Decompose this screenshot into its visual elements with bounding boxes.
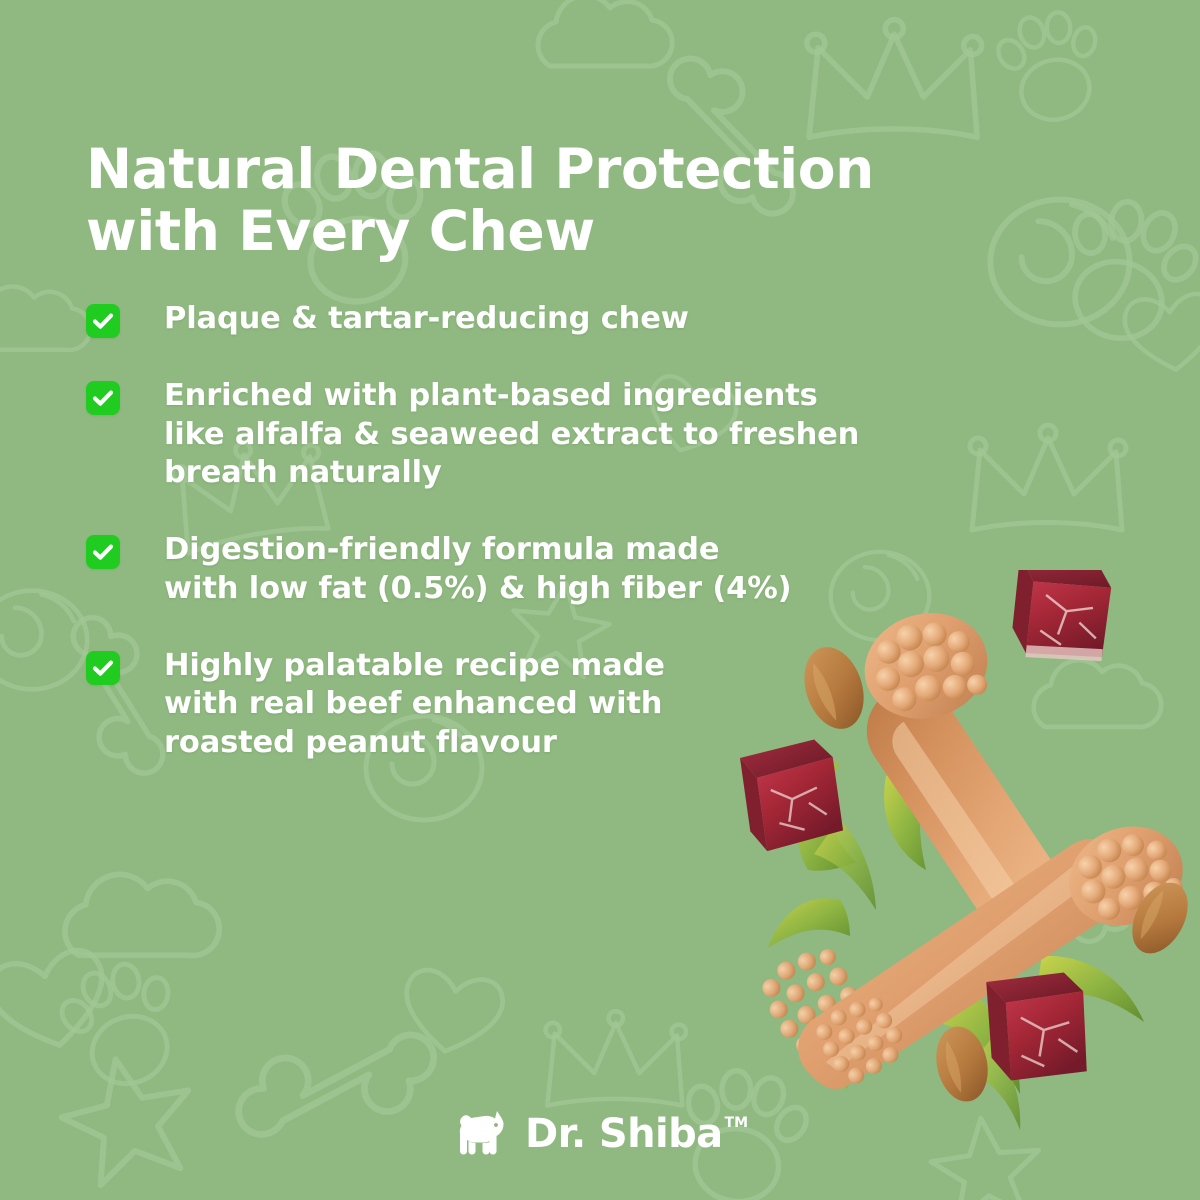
check-icon <box>86 651 120 685</box>
seaweed-group <box>768 760 1178 1130</box>
list-item-label: Plaque & tartar-reducing chew <box>164 300 689 339</box>
brand-name: Dr. Shiba <box>525 1114 723 1154</box>
list-item: Digestion-friendly formula made with low… <box>86 531 976 608</box>
content-column: Natural Dental Protection with Every Che… <box>0 0 1200 763</box>
shiba-dog-silhouette-icon <box>452 1110 514 1158</box>
check-icon <box>86 304 120 338</box>
beef-cube-3 <box>986 971 1089 1081</box>
peanut-2 <box>1121 873 1199 963</box>
list-item: Plaque & tartar-reducing chew <box>86 300 976 339</box>
check-icon <box>86 535 120 569</box>
benefit-list: Plaque & tartar-reducing chew Enriched w… <box>86 300 976 763</box>
list-item-label: Digestion-friendly formula made with low… <box>164 531 791 608</box>
check-icon <box>86 381 120 415</box>
promo-banner: Natural Dental Protection with Every Che… <box>0 0 1200 1200</box>
list-item: Enriched with plant-based ingredients li… <box>86 377 976 493</box>
list-item-label: Highly palatable recipe made with real b… <box>164 647 665 763</box>
trademark-symbol: TM <box>725 1116 748 1130</box>
list-item-label: Enriched with plant-based ingredients li… <box>164 377 859 493</box>
page-title: Natural Dental Protection with Every Che… <box>86 138 916 262</box>
peanut-3 <box>930 1022 995 1107</box>
list-item: Highly palatable recipe made with real b… <box>86 647 976 763</box>
brand-lockup: Dr. Shiba TM <box>0 1110 1200 1158</box>
dental-chew-stick-2 <box>798 810 1198 1092</box>
